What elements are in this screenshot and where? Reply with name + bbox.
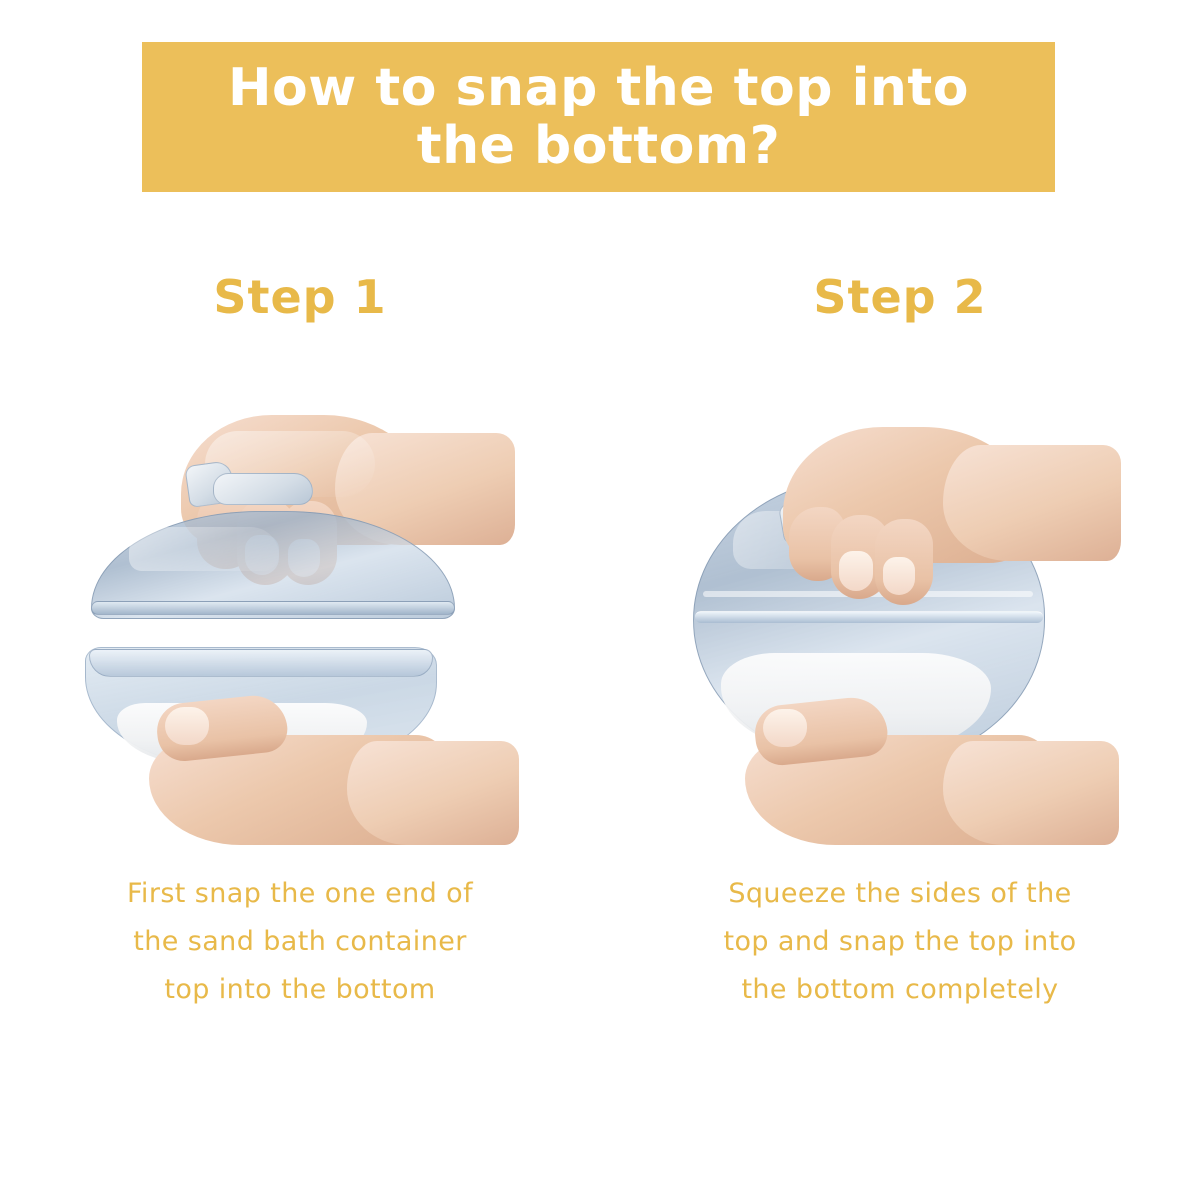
- caption-line: Squeeze the sides of the: [600, 870, 1200, 918]
- container-top-ridge: [213, 473, 313, 505]
- lower-hand-wrist: [943, 741, 1119, 845]
- upper-hand-wrist: [943, 445, 1121, 561]
- step-2-illustration: [685, 415, 1115, 845]
- upper-nail-2: [883, 557, 915, 595]
- step-1-caption: First snap the one end of the sand bath …: [0, 870, 600, 1014]
- container-bottom-rim: [89, 649, 433, 677]
- container-top-rim: [91, 601, 455, 615]
- lower-thumb-nail: [763, 709, 807, 747]
- caption-line: top and snap the top into: [600, 918, 1200, 966]
- caption-line: the bottom completely: [600, 966, 1200, 1014]
- step-2-caption: Squeeze the sides of the top and snap th…: [600, 870, 1200, 1014]
- caption-line: the sand bath container: [0, 918, 600, 966]
- step-1-column: Step 1: [0, 270, 600, 1050]
- caption-line: First snap the one end of: [0, 870, 600, 918]
- page-title: How to snap the top into the bottom?: [228, 59, 969, 175]
- step-1-label: Step 1: [0, 270, 600, 324]
- step-1-illustration: [85, 415, 515, 845]
- lower-thumb-nail: [165, 707, 209, 745]
- header-banner: How to snap the top into the bottom?: [142, 42, 1055, 192]
- step-2-photo: [600, 415, 1200, 845]
- step-1-photo: [0, 415, 600, 845]
- container-seam: [695, 611, 1043, 623]
- upper-nail-1: [839, 551, 873, 591]
- caption-line: top into the bottom: [0, 966, 600, 1014]
- step-2-column: Step 2: [600, 270, 1200, 1050]
- steps-container: Step 1: [0, 270, 1200, 1050]
- lower-hand-wrist: [347, 741, 519, 845]
- step-2-label: Step 2: [600, 270, 1200, 324]
- container-top-highlight: [129, 527, 279, 571]
- instruction-page: How to snap the top into the bottom? Ste…: [0, 0, 1200, 1200]
